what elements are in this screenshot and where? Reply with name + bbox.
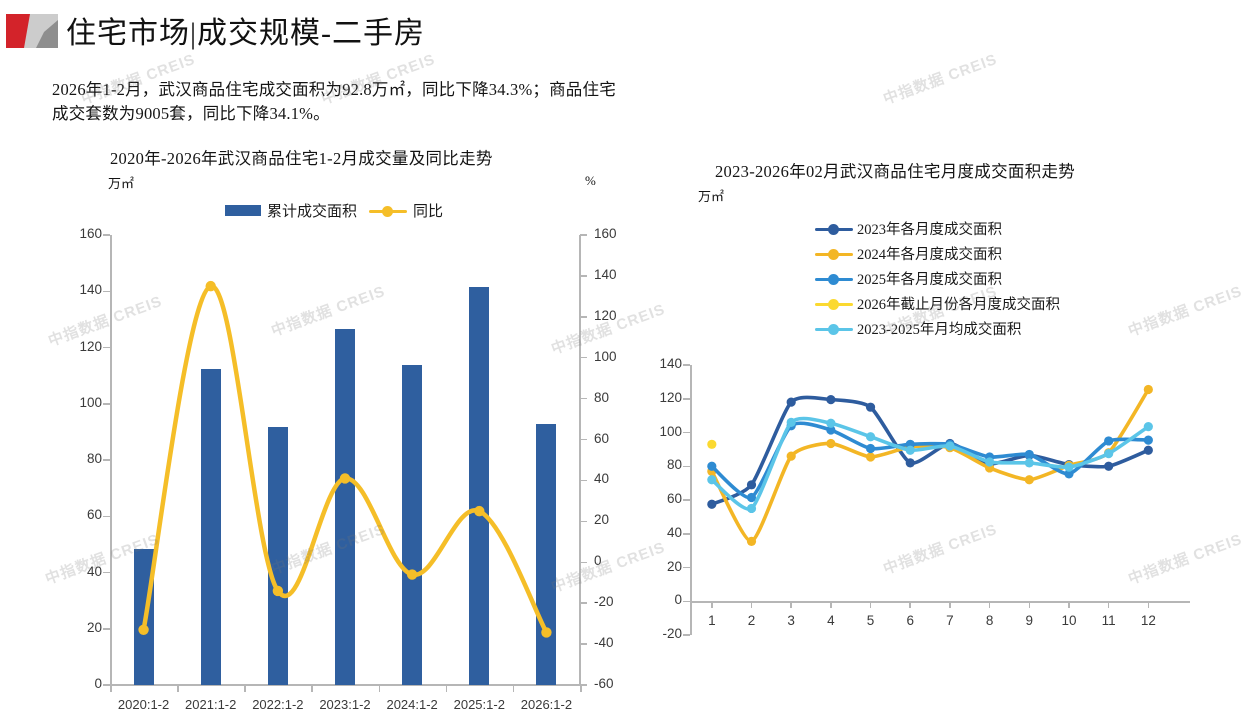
left-y-tick-label: 100: [58, 395, 102, 410]
right-x-tick-label: 7: [928, 613, 972, 628]
left-y2-tick-mark: [580, 398, 587, 400]
left-x-tick-mark: [311, 685, 313, 692]
left-x-tick-label: 2026:1-2: [505, 697, 588, 712]
left-y2-tick-mark: [580, 316, 587, 318]
right-x-tick-label: 6: [888, 613, 932, 628]
legend-item-avg: 2023-2025年月均成交面积: [815, 318, 1060, 339]
left-y-tick-label: 160: [58, 226, 102, 241]
left-x-tick-mark: [580, 685, 582, 692]
left-y-tick-mark: [103, 234, 110, 236]
left-chart: 2020年-2026年武汉商品住宅1-2月成交量及同比走势 万㎡ % 累计成交面…: [0, 140, 630, 706]
right-x-tick-mark: [870, 601, 872, 608]
right-x-tick-mark: [711, 601, 713, 608]
right-x-tick-label: 10: [1047, 613, 1091, 628]
right-chart-plot-area: -20020406080100120140 123456789101112: [690, 365, 1190, 635]
right-x-tick-mark: [989, 601, 991, 608]
left-chart-title: 2020年-2026年武汉商品住宅1-2月成交量及同比走势: [110, 145, 493, 169]
legend-item-cumulative-area: 累计成交面积: [225, 200, 357, 221]
left-y2-tick-mark: [580, 521, 587, 523]
left-y-tick-label: 140: [58, 282, 102, 297]
legend-item-yoy: 同比: [369, 200, 443, 221]
right-x-tick-label: 12: [1126, 613, 1170, 628]
right-chart: 2023-2026年02月武汉商品住宅月度成交面积走势 万㎡ 2023年各月度成…: [630, 140, 1257, 706]
left-x-tick-mark: [446, 685, 448, 692]
right-x-tick-label: 3: [769, 613, 813, 628]
right-y-tick-mark: [683, 398, 690, 400]
right-x-tick-label: 2: [730, 613, 774, 628]
line-swatch-icon: [369, 205, 407, 217]
line-swatch-icon: [815, 273, 853, 285]
legend-item-2026: 2026年截止月份各月度成交面积: [815, 293, 1060, 314]
right-y-tick-mark: [683, 533, 690, 535]
legend-label: 2026年截止月份各月度成交面积: [857, 293, 1060, 314]
summary-paragraph: 2026年1-2月，武汉商品住宅成交面积为92.8万㎡，同比下降34.3%；商品…: [52, 78, 632, 126]
left-chart-y2-unit: %: [585, 173, 596, 189]
left-y2-tick-mark: [580, 562, 587, 564]
line-swatch-icon: [815, 223, 853, 235]
left-y-tick-mark: [103, 572, 110, 574]
right-y-tick-mark: [683, 567, 690, 569]
right-y-tick-label: 100: [638, 424, 682, 439]
left-y2-tick-mark: [580, 234, 587, 236]
left-y-tick-mark: [103, 516, 110, 518]
right-x-tick-mark: [1029, 601, 1031, 608]
right-y-tick-mark: [683, 432, 690, 434]
left-y-tick-mark: [103, 684, 110, 686]
legend-item-2023: 2023年各月度成交面积: [815, 218, 1060, 239]
left-y2-tick-mark: [580, 480, 587, 482]
right-y-tick-label: -20: [638, 626, 682, 641]
left-y-tick-mark: [103, 291, 110, 293]
left-x-tick-mark: [110, 685, 112, 692]
left-x-tick-mark: [379, 685, 381, 692]
left-y-tick-label: 120: [58, 339, 102, 354]
right-y-tick-mark: [683, 634, 690, 636]
right-x-tick-mark: [1148, 601, 1150, 608]
legend-label: 2023年各月度成交面积: [857, 218, 1002, 239]
left-y-tick-mark: [103, 459, 110, 461]
right-y-tick-label: 0: [638, 592, 682, 607]
right-x-tick-mark: [830, 601, 832, 608]
right-x-tick-mark: [909, 601, 911, 608]
page-title: 住宅市场|成交规模-二手房: [66, 8, 425, 52]
right-x-tick-label: 4: [809, 613, 853, 628]
right-y-tick-mark: [683, 499, 690, 501]
left-x-tick-mark: [244, 685, 246, 692]
left-x-tick-mark: [513, 685, 515, 692]
right-x-tick-mark: [751, 601, 753, 608]
legend-item-2024: 2024年各月度成交面积: [815, 243, 1060, 264]
left-y-tick-label: 0: [58, 676, 102, 691]
left-y2-tick-mark: [580, 643, 587, 645]
left-y-tick-mark: [103, 403, 110, 405]
right-x-tick-label: 9: [1007, 613, 1051, 628]
right-y-tick-label: 60: [638, 491, 682, 506]
right-y-tick-label: 120: [638, 390, 682, 405]
right-y-tick-label: 40: [638, 525, 682, 540]
left-y2-tick-mark: [580, 357, 587, 359]
legend-label: 2024年各月度成交面积: [857, 243, 1002, 264]
left-y-tick-mark: [103, 347, 110, 349]
left-y-tick-label: 40: [58, 564, 102, 579]
right-y-tick-label: 20: [638, 559, 682, 574]
right-x-tick-mark: [790, 601, 792, 608]
page-header: 住宅市场|成交规模-二手房: [0, 0, 1257, 60]
right-x-tick-label: 5: [849, 613, 893, 628]
left-y-tick-label: 60: [58, 507, 102, 522]
right-chart-y-unit: 万㎡: [698, 186, 724, 205]
line-swatch-icon: [815, 248, 853, 260]
right-x-tick-mark: [1068, 601, 1070, 608]
legend-label: 同比: [413, 200, 443, 221]
left-yoy-line: [110, 235, 580, 685]
right-y-tick-label: 140: [638, 356, 682, 371]
right-x-tick-mark: [1108, 601, 1110, 608]
left-y-tick-label: 20: [58, 620, 102, 635]
brand-logo-icon: [6, 12, 58, 50]
right-chart-legend: 2023年各月度成交面积 2024年各月度成交面积 2025年各月度成交面积 2…: [815, 218, 1060, 339]
left-chart-plot-area: 020406080100120140160 -60-40-20020406080…: [110, 235, 580, 685]
line-swatch-icon: [815, 323, 853, 335]
legend-item-2025: 2025年各月度成交面积: [815, 268, 1060, 289]
right-series-lines: [690, 365, 1190, 635]
right-y-tick-label: 80: [638, 457, 682, 472]
right-x-tick-mark: [949, 601, 951, 608]
left-chart-legend: 累计成交面积 同比: [225, 200, 443, 221]
right-chart-title: 2023-2026年02月武汉商品住宅月度成交面积走势: [715, 158, 1075, 182]
right-y-tick-mark: [683, 364, 690, 366]
left-y-tick-mark: [103, 628, 110, 630]
left-y2-tick-mark: [580, 275, 587, 277]
left-x-tick-mark: [177, 685, 179, 692]
legend-label: 2023-2025年月均成交面积: [857, 318, 1021, 339]
bar-swatch-icon: [225, 205, 261, 216]
right-x-tick-label: 1: [690, 613, 734, 628]
right-x-tick-label: 8: [968, 613, 1012, 628]
legend-label: 2025年各月度成交面积: [857, 268, 1002, 289]
left-chart-y-unit: 万㎡: [108, 173, 134, 192]
right-y-tick-mark: [683, 601, 690, 603]
line-swatch-icon: [815, 298, 853, 310]
right-x-tick-label: 11: [1087, 613, 1131, 628]
left-y2-tick-mark: [580, 602, 587, 604]
right-y-tick-mark: [683, 466, 690, 468]
left-y2-tick-mark: [580, 439, 587, 441]
legend-label: 累计成交面积: [267, 200, 357, 221]
left-y-tick-label: 80: [58, 451, 102, 466]
